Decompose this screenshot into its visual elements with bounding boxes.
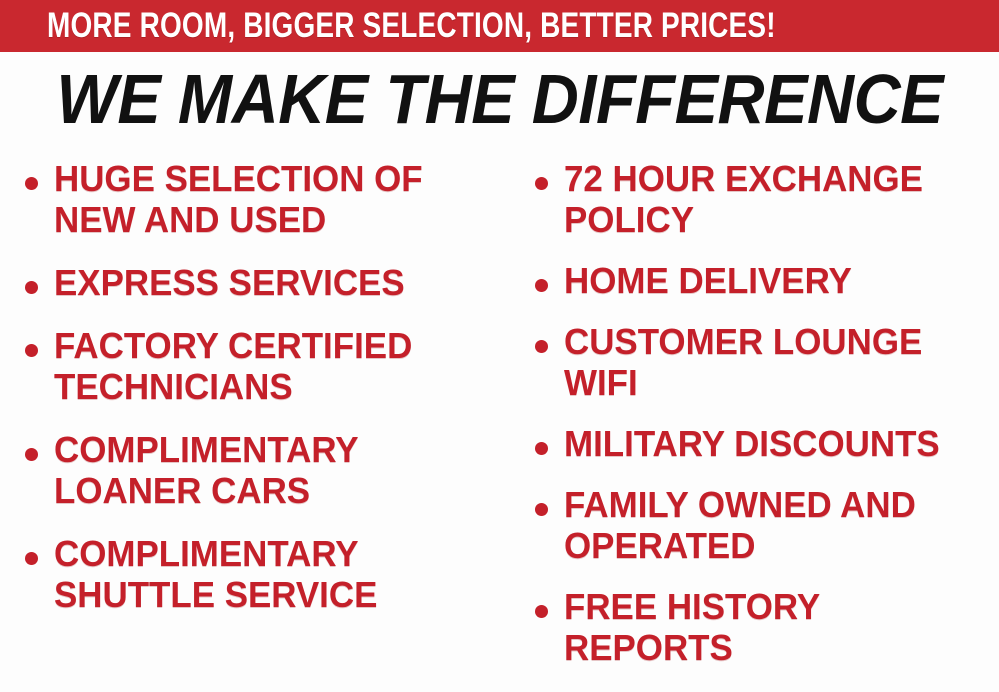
list-item: FREE HISTORY REPORTS bbox=[528, 586, 999, 668]
main-headline: WE MAKE THE DIFFERENCE bbox=[0, 64, 999, 134]
bullet-dot-icon bbox=[25, 448, 38, 461]
list-item: FACTORY CERTIFIED TECHNICIANS bbox=[18, 325, 508, 407]
bullet-dot-icon bbox=[25, 344, 38, 357]
list-item-label: MILITARY DISCOUNTS bbox=[564, 423, 986, 464]
list-item: HOME DELIVERY bbox=[528, 260, 999, 301]
list-item: EXPRESS SERVICES bbox=[18, 262, 508, 303]
list-item-label: HOME DELIVERY bbox=[564, 260, 986, 301]
bullet-dot-icon bbox=[535, 340, 548, 353]
list-item: COMPLIMENTARY SHUTTLE SERVICE bbox=[18, 533, 508, 615]
bullet-dot-icon bbox=[25, 552, 38, 565]
list-item-label: FAMILY OWNED AND OPERATED bbox=[564, 484, 986, 566]
features-column-right: 72 HOUR EXCHANGE POLICY HOME DELIVERY CU… bbox=[510, 158, 999, 688]
bullet-dot-icon bbox=[535, 503, 548, 516]
main-headline-text: WE MAKE THE DIFFERENCE bbox=[56, 64, 943, 134]
list-item: HUGE SELECTION OF NEW AND USED bbox=[18, 158, 508, 240]
banner-headline-text: MORE ROOM, BIGGER SELECTION, BETTER PRIC… bbox=[47, 8, 776, 43]
top-banner: MORE ROOM, BIGGER SELECTION, BETTER PRIC… bbox=[0, 0, 999, 52]
list-item: COMPLIMENTARY LOANER CARS bbox=[18, 429, 508, 511]
list-item-label: FREE HISTORY REPORTS bbox=[564, 586, 986, 668]
promotional-poster: MORE ROOM, BIGGER SELECTION, BETTER PRIC… bbox=[0, 0, 999, 692]
list-item-label: EXPRESS SERVICES bbox=[54, 262, 494, 303]
list-item-label: COMPLIMENTARY LOANER CARS bbox=[54, 429, 494, 511]
bullet-dot-icon bbox=[25, 281, 38, 294]
bullet-dot-icon bbox=[535, 605, 548, 618]
bullet-dot-icon bbox=[25, 177, 38, 190]
list-item: CUSTOMER LOUNGE WIFI bbox=[528, 321, 999, 403]
list-item: FAMILY OWNED AND OPERATED bbox=[528, 484, 999, 566]
list-item: MILITARY DISCOUNTS bbox=[528, 423, 999, 464]
list-item-label: FACTORY CERTIFIED TECHNICIANS bbox=[54, 325, 494, 407]
list-item-label: 72 HOUR EXCHANGE POLICY bbox=[564, 158, 986, 240]
features-columns: HUGE SELECTION OF NEW AND USED EXPRESS S… bbox=[0, 158, 999, 692]
bullet-dot-icon bbox=[535, 279, 548, 292]
features-column-left: HUGE SELECTION OF NEW AND USED EXPRESS S… bbox=[0, 158, 510, 637]
list-item: 72 HOUR EXCHANGE POLICY bbox=[528, 158, 999, 240]
bullet-dot-icon bbox=[535, 442, 548, 455]
bullet-dot-icon bbox=[535, 177, 548, 190]
list-item-label: COMPLIMENTARY SHUTTLE SERVICE bbox=[54, 533, 494, 615]
list-item-label: CUSTOMER LOUNGE WIFI bbox=[564, 321, 986, 403]
list-item-label: HUGE SELECTION OF NEW AND USED bbox=[54, 158, 494, 240]
